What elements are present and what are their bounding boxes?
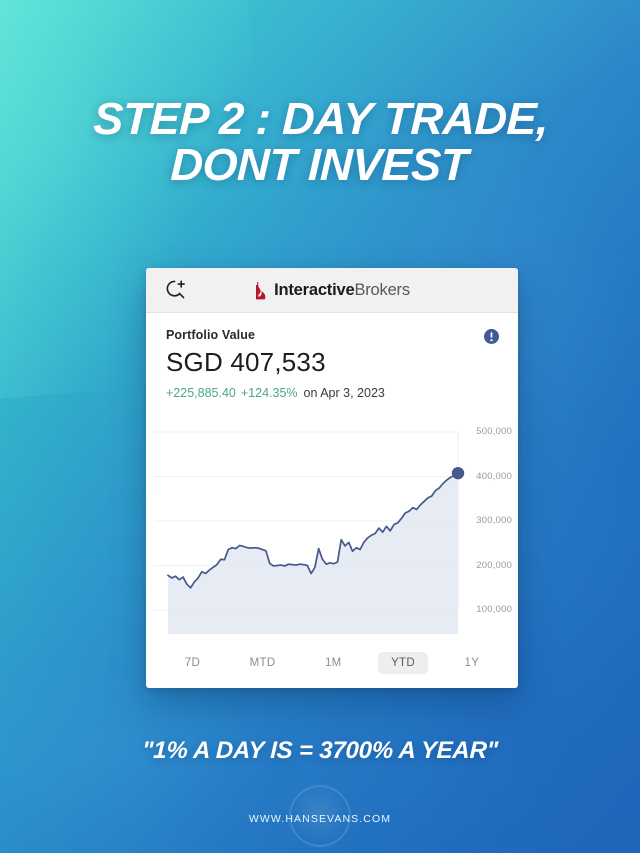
headline: STEP 2 : DAY TRADE, DONT INVEST (0, 96, 640, 188)
portfolio-value-label: Portfolio Value (166, 328, 498, 342)
range-button-7d[interactable]: 7D (172, 652, 213, 674)
change-amount: +225,885.40 (166, 386, 236, 400)
interactive-brokers-mark-icon (254, 281, 269, 300)
y-axis-tick-label: 200,000 (476, 560, 512, 571)
brand-logo: InteractiveBrokers (146, 268, 518, 312)
y-axis-tick-label: 300,000 (476, 515, 512, 526)
brand-name-light: Brokers (354, 281, 409, 299)
alert-exclamation-icon[interactable] (484, 329, 499, 344)
headline-line-1: STEP 2 : DAY TRADE, (93, 93, 550, 144)
broker-app-card: InteractiveBrokers Portfolio Value SGD 4… (146, 268, 518, 688)
brand-text: InteractiveBrokers (274, 281, 410, 300)
range-button-1y[interactable]: 1Y (452, 652, 493, 674)
range-button-1m[interactable]: 1M (312, 652, 355, 674)
portfolio-value-amount: SGD 407,533 (166, 347, 498, 378)
slide-canvas: STEP 2 : DAY TRADE, DONT INVEST Interact… (0, 0, 640, 853)
y-axis-tick-label: 400,000 (476, 471, 512, 482)
change-date: on Apr 3, 2023 (304, 386, 385, 400)
portfolio-chart[interactable]: 500,000400,000300,000200,000100,000 (146, 418, 518, 646)
range-button-mtd[interactable]: MTD (237, 652, 289, 674)
app-header: InteractiveBrokers (146, 268, 518, 313)
chart-area-fill (168, 473, 458, 634)
headline-line-2: DONT INVEST (26, 142, 612, 188)
portfolio-change-row: +225,885.40+124.35%on Apr 3, 2023 (166, 386, 498, 400)
brand-name-bold: Interactive (274, 281, 354, 299)
y-axis-tick-label: 500,000 (476, 426, 512, 437)
range-selector[interactable]: 7DMTD1MYTD1Y (146, 650, 518, 676)
range-button-ytd[interactable]: YTD (378, 652, 428, 674)
y-axis-tick-label: 100,000 (476, 604, 512, 615)
portfolio-summary: Portfolio Value SGD 407,533 +225,885.40+… (146, 313, 518, 400)
bottom-caption: "1% A DAY IS = 3700% A YEAR" (0, 737, 640, 765)
change-percent: +124.35% (241, 386, 298, 400)
chart-y-axis-labels: 500,000400,000300,000200,000100,000 (454, 418, 512, 646)
site-watermark: WWW.HANSEVANS.COM (0, 813, 640, 825)
